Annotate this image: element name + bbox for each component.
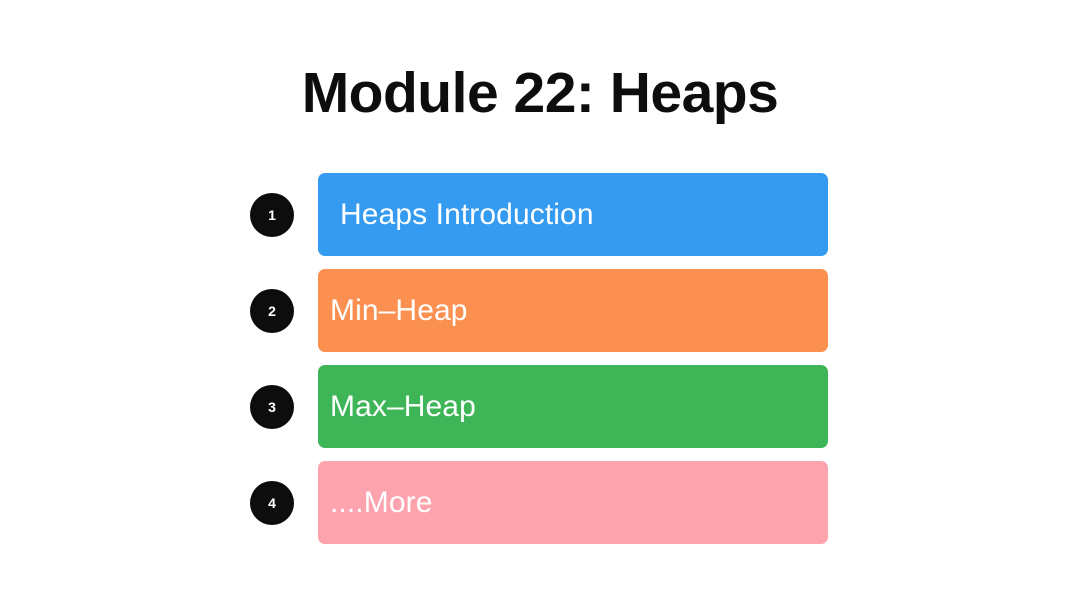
step-badge: 1 <box>250 193 294 237</box>
agenda-bar-max-heap[interactable]: Max–Heap <box>318 365 828 448</box>
agenda-bar-more[interactable]: ....More <box>318 461 828 544</box>
list-item[interactable]: 4 ....More <box>0 461 1080 544</box>
list-item[interactable]: 3 Max–Heap <box>0 365 1080 448</box>
agenda-list: 1 Heaps Introduction 2 Min–Heap 3 Max–He… <box>0 173 1080 544</box>
step-badge: 4 <box>250 481 294 525</box>
agenda-item-label: Min–Heap <box>330 295 468 327</box>
step-badge: 2 <box>250 289 294 333</box>
agenda-item-label: Max–Heap <box>330 391 476 423</box>
agenda-item-label: Heaps Introduction <box>340 199 594 231</box>
agenda-bar-min-heap[interactable]: Min–Heap <box>318 269 828 352</box>
step-badge: 3 <box>250 385 294 429</box>
page-title: Module 22: Heaps <box>0 62 1080 125</box>
list-item[interactable]: 2 Min–Heap <box>0 269 1080 352</box>
slide-canvas: Module 22: Heaps 1 Heaps Introduction 2 … <box>0 0 1080 608</box>
agenda-bar-heaps-introduction[interactable]: Heaps Introduction <box>318 173 828 256</box>
list-item[interactable]: 1 Heaps Introduction <box>0 173 1080 256</box>
agenda-item-label: ....More <box>330 487 433 519</box>
